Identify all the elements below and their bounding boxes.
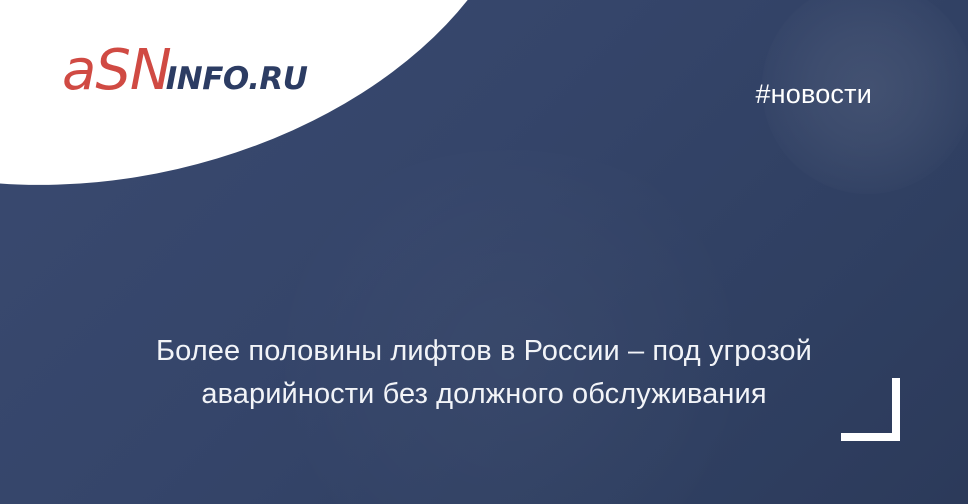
page-title: Более половины лифтов в России – под угр… [64,330,904,416]
logo-primary-text: aSN [62,43,171,99]
headline-line-1: Более половины лифтов в России – под угр… [64,330,904,373]
hashtag-label[interactable]: #новости [755,81,872,108]
brand-logo[interactable]: aSN INFO.RU [62,43,307,99]
logo-secondary-text: INFO.RU [166,64,308,95]
corner-bracket-icon [841,378,900,441]
headline-line-2: аварийности без должного обслуживания [64,373,904,416]
news-card: aSN INFO.RU #новости Более половины лифт… [0,0,968,504]
